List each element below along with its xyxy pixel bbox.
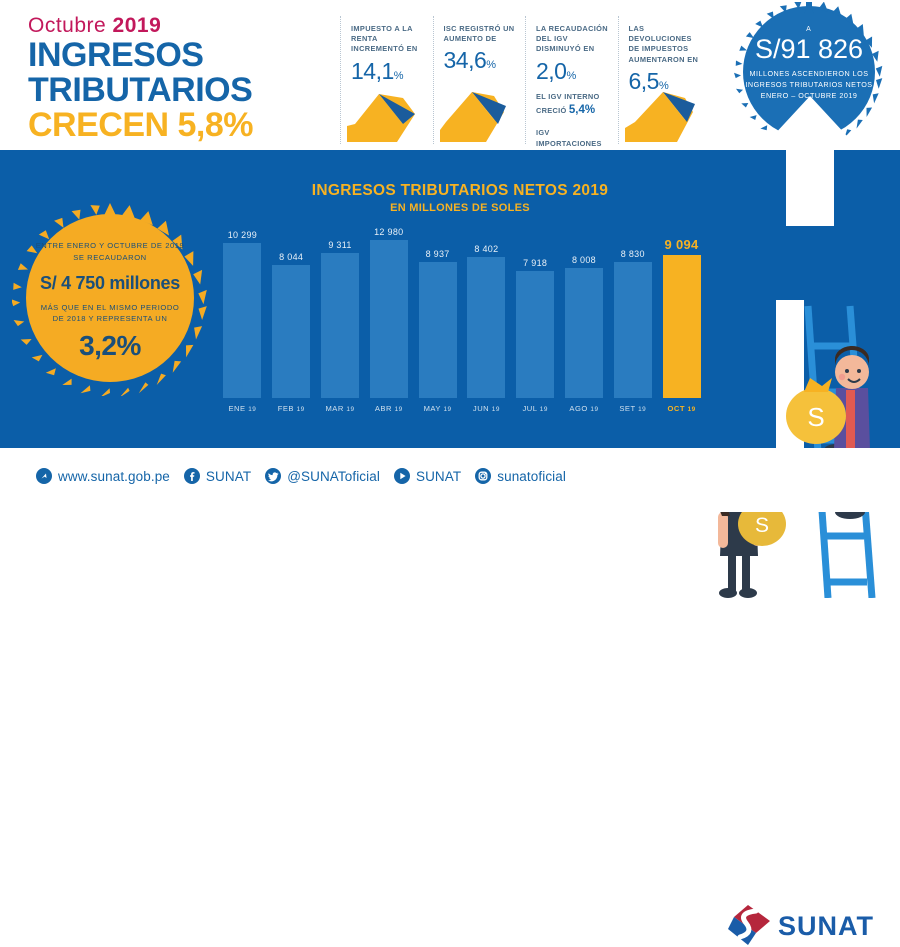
twitter-icon — [265, 468, 281, 484]
footer-link-label: www.sunat.gob.pe — [58, 469, 170, 484]
stat-renta-number: 14,1 — [351, 58, 394, 84]
stat-renta: Impuesto a la Renta incrementó en 14,1% — [340, 16, 433, 144]
bar — [467, 257, 505, 398]
bar-column-abr: 12 980 — [364, 238, 413, 398]
footer-link-label: SUNAT — [416, 469, 461, 484]
header-month: Octubre 2019 — [28, 14, 333, 37]
badge-recaudacion-percent: 3,2% — [12, 330, 208, 362]
main-panel: ENTRE ENERO Y OCTUBRE DE 2019 SE RECAUDA… — [0, 150, 900, 448]
badge-total-amount: S/91 826 — [726, 35, 892, 63]
big-white-up-arrow-icon — [730, 96, 890, 226]
axis-tick-may: MAY 19 — [413, 404, 462, 413]
stat-igv-interno: El IGV interno creció 5,4% — [536, 92, 612, 119]
bar-value-label: 12 980 — [364, 227, 413, 237]
stat-igv-interno-value: 5,4% — [569, 104, 595, 116]
chart-title: INGRESOS TRIBUTARIOS NETOS 2019 — [215, 182, 705, 200]
badge-recaudacion-top-text: ENTRE ENERO Y OCTUBRE DE 2019 SE RECAUDA… — [12, 240, 208, 264]
axis-tick-ago: AGO 19 — [560, 404, 609, 413]
bar-column-oct: 9 094 — [657, 238, 706, 398]
bar-value-label: 9 094 — [657, 237, 706, 252]
bar-column-may: 8 937 — [413, 238, 462, 398]
svg-text:S: S — [755, 514, 769, 537]
up-arrow-icon — [623, 86, 707, 142]
stat-isc: ISC registró un aumento de 34,6% — [433, 16, 526, 144]
stat-isc-number: 34,6 — [444, 47, 487, 73]
badge-total-content: A S/91 826 MILLONES ASCENDIERON LOS INGR… — [726, 26, 892, 102]
bar-column-jun: 8 402 — [462, 238, 511, 398]
footer-link-label: SUNAT — [206, 469, 251, 484]
stat-igv-value: 2,0% — [536, 60, 612, 83]
stat-devoluciones-label: Las devoluciones de impuestos aumentaron… — [629, 24, 705, 65]
axis-tick-abr: ABR 19 — [364, 404, 413, 413]
stat-isc-value: 34,6% — [444, 49, 520, 72]
stat-devoluciones: Las devoluciones de impuestos aumentaron… — [618, 16, 711, 144]
infographic-root: Octubre 2019 INGRESOS TRIBUTARIOS CRECEN… — [0, 0, 900, 512]
sunat-logo: SUNAT — [726, 903, 876, 947]
badge-recaudacion-mid-text: MÁS QUE EN EL MISMO PERIODO DE 2018 Y RE… — [12, 302, 208, 326]
stat-igv-importaciones-label: IGV importaciones — [536, 128, 602, 148]
header-title-line1: INGRESOS — [28, 39, 333, 72]
axis-tick-set: SET 19 — [608, 404, 657, 413]
bar — [272, 265, 310, 398]
up-arrow-icon — [345, 86, 429, 142]
axis-tick-ene: ENE 19 — [218, 404, 267, 413]
svg-text:SUNAT: SUNAT — [778, 911, 874, 941]
badge-recaudacion-content: ENTRE ENERO Y OCTUBRE DE 2019 SE RECAUDA… — [12, 240, 208, 362]
stat-renta-value: 14,1% — [351, 60, 427, 83]
bar-column-set: 8 830 — [608, 238, 657, 398]
header-year: 2019 — [113, 14, 162, 37]
bar-column-jul: 7 918 — [511, 238, 560, 398]
sunat-logo-mark — [728, 905, 770, 945]
stat-isc-label: ISC registró un aumento de — [444, 24, 520, 44]
bar — [419, 262, 457, 398]
bar — [614, 262, 652, 398]
axis-tick-feb: FEB 19 — [267, 404, 316, 413]
footer-link-label: sunatoficial — [497, 469, 566, 484]
stat-igv-number: 2,0 — [536, 58, 566, 84]
footer-section: www.sunat.gob.peSUNAT@SUNAToficialSUNATs… — [0, 448, 900, 512]
stat-isc-unit: % — [486, 59, 495, 71]
title-block: Octubre 2019 INGRESOS TRIBUTARIOS CRECEN… — [28, 14, 333, 142]
instagram-icon — [475, 468, 491, 484]
badge-recaudacion-amount: S/ 4 750 millones — [12, 273, 208, 294]
chart-title-block: INGRESOS TRIBUTARIOS NETOS 2019 EN MILLO… — [215, 182, 705, 214]
bar-value-label: 8 937 — [413, 249, 462, 259]
facebook-icon — [184, 468, 200, 484]
axis-tick-jul: JUL 19 — [511, 404, 560, 413]
web-icon — [36, 468, 52, 484]
footer-link-twitter[interactable]: @SUNAToficial — [265, 468, 380, 484]
header-month-name: Octubre — [28, 14, 106, 37]
axis-tick-jun: JUN 19 — [462, 404, 511, 413]
badge-total-prefix: A — [726, 26, 892, 33]
footer-link-label: @SUNAToficial — [287, 469, 380, 484]
stat-igv-unit: % — [566, 70, 575, 82]
bar-value-label: 8 044 — [267, 252, 316, 262]
stat-renta-label: Impuesto a la Renta incrementó en — [351, 24, 427, 55]
bar-chart: 10 2998 0449 31112 9808 9378 4027 9188 0… — [218, 238, 706, 428]
bar-value-label: 8 008 — [560, 255, 609, 265]
bar-value-label: 10 299 — [218, 230, 267, 240]
axis-tick-mar: MAR 19 — [316, 404, 365, 413]
footer-link-instagram[interactable]: sunatoficial — [475, 468, 566, 484]
footer-link-web[interactable]: www.sunat.gob.pe — [36, 468, 170, 484]
bar-column-mar: 9 311 — [316, 238, 365, 398]
bar-column-ene: 10 299 — [218, 238, 267, 398]
up-arrow-icon — [438, 86, 522, 142]
bar-chart-axis-labels: ENE 19FEB 19MAR 19ABR 19MAY 19JUN 19JUL … — [218, 404, 706, 413]
stat-renta-unit: % — [394, 70, 403, 82]
svg-text:S: S — [807, 402, 824, 432]
header-title-line3: CRECEN 5,8% — [28, 108, 333, 142]
badge-recaudacion: ENTRE ENERO Y OCTUBRE DE 2019 SE RECAUDA… — [12, 200, 208, 396]
youtube-icon — [394, 468, 410, 484]
bar — [321, 253, 359, 398]
bar-value-label: 9 311 — [316, 240, 365, 250]
bar-value-label: 8 402 — [462, 244, 511, 254]
footer-link-youtube[interactable]: SUNAT — [394, 468, 461, 484]
header-title-line2: TRIBUTARIOS — [28, 74, 333, 107]
stat-columns: Impuesto a la Renta incrementó en 14,1% … — [340, 16, 710, 144]
bar-column-ago: 8 008 — [560, 238, 609, 398]
bar — [516, 271, 554, 398]
bar — [663, 255, 701, 398]
stat-igv: La recaudación del IGV disminuyó en 2,0%… — [525, 16, 618, 144]
bar-chart-bars: 10 2998 0449 31112 9808 9378 4027 9188 0… — [218, 238, 706, 398]
bar-column-feb: 8 044 — [267, 238, 316, 398]
bar — [370, 240, 408, 398]
bar-value-label: 7 918 — [511, 258, 560, 268]
axis-tick-oct: OCT 19 — [657, 404, 706, 413]
bar — [565, 268, 603, 398]
bar — [223, 243, 261, 398]
footer-link-facebook[interactable]: SUNAT — [184, 468, 251, 484]
social-links: www.sunat.gob.peSUNAT@SUNAToficialSUNATs… — [36, 468, 566, 484]
bar-value-label: 8 830 — [608, 249, 657, 259]
stat-igv-label: La recaudación del IGV disminuyó en — [536, 24, 612, 55]
chart-subtitle: EN MILLONES DE SOLES — [215, 202, 705, 214]
